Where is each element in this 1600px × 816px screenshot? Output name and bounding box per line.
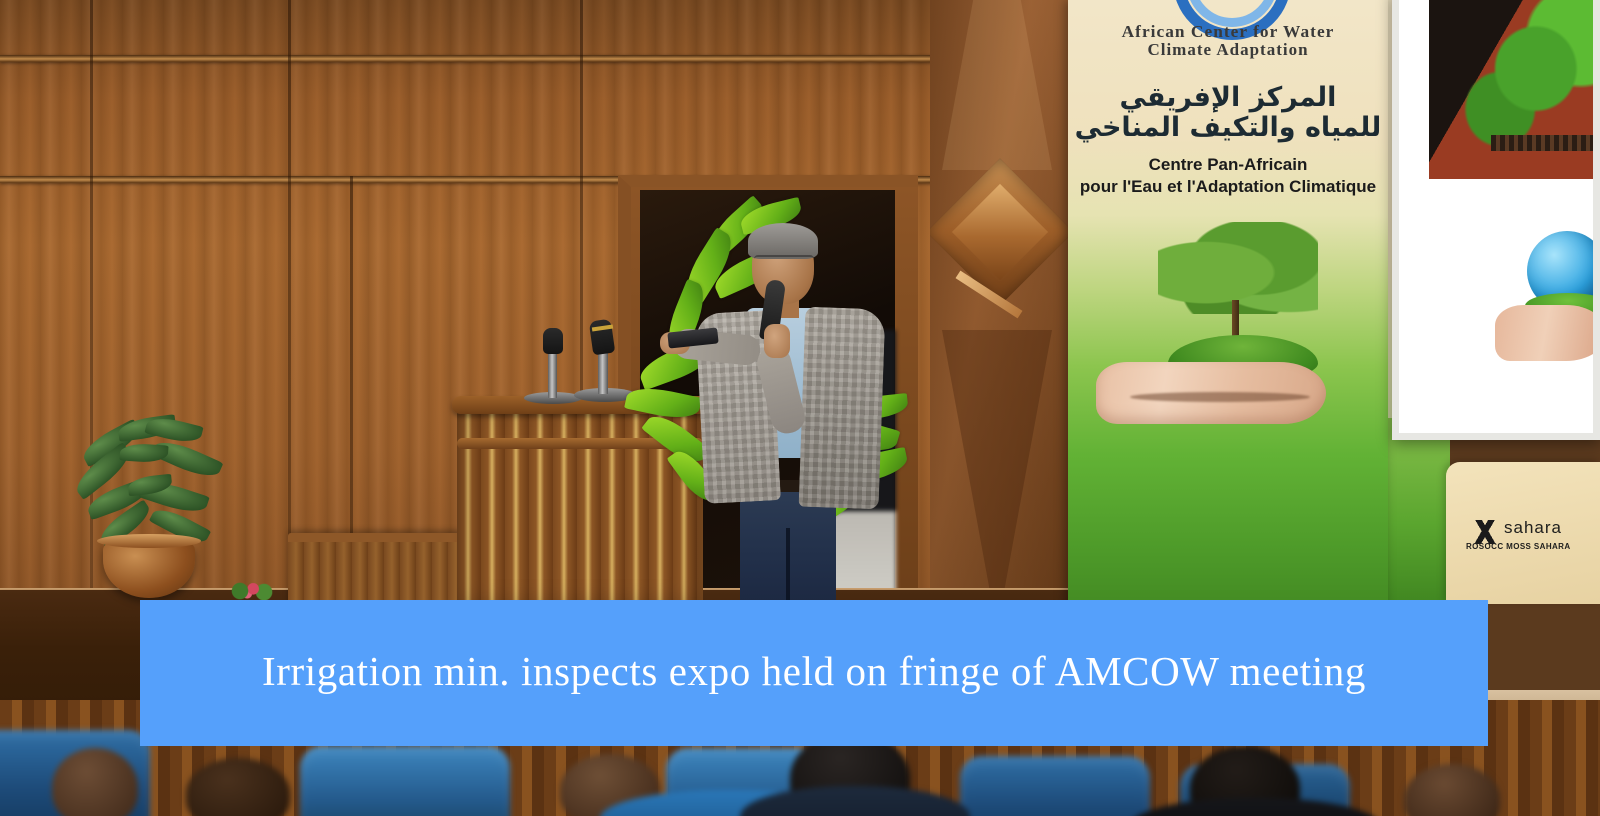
banner-arabic-line2: للمياه والتكيف المناخي xyxy=(1068,112,1388,143)
carved-diamond-wood-panel xyxy=(930,0,1070,640)
plant-pot-rim xyxy=(97,534,201,548)
sahara-tagline: ROSOCC MOSS SAHARA xyxy=(1466,542,1571,551)
photo-scene: African Center for Water Climate Adaptat… xyxy=(0,0,1600,816)
banner-french-line2: pour l'Eau et l'Adaptation Climatique xyxy=(1068,177,1388,197)
rollup-banner: African Center for Water Climate Adaptat… xyxy=(1068,0,1388,632)
poster-hand xyxy=(1495,305,1600,361)
audience-head xyxy=(1404,764,1500,816)
speaker-hand-right xyxy=(764,324,790,358)
sahara-logo-icon xyxy=(1468,520,1502,544)
speaker-hair xyxy=(748,223,818,259)
potted-schefflera-plant xyxy=(0,0,300,620)
caption-text: Irrigation min. inspects expo held on fr… xyxy=(262,651,1366,692)
carved-triangle-up xyxy=(942,0,1052,170)
sahara-branded-panel: sahara ROSOCC MOSS SAHARA xyxy=(1446,462,1600,604)
audience-chair xyxy=(300,746,510,816)
microphone-head-left xyxy=(543,328,563,354)
audience-chair xyxy=(960,756,1150,816)
sahara-wordmark: sahara xyxy=(1504,518,1562,538)
carved-triangle-down xyxy=(942,330,1052,630)
caption-banner: Irrigation min. inspects expo held on fr… xyxy=(140,600,1488,746)
banner-french-line1: Centre Pan-Africain xyxy=(1068,155,1388,175)
flower-arrangement xyxy=(222,580,282,602)
microphone-stem-left xyxy=(548,350,557,398)
poster-shelf xyxy=(1491,135,1600,151)
audience-head xyxy=(186,758,290,816)
banner-arabic-line1: المركز الإفريقي xyxy=(1068,82,1388,113)
glasses-icon xyxy=(754,255,814,268)
audience-head xyxy=(52,748,138,816)
framed-poster xyxy=(1392,0,1600,440)
banner-english-line2: Climate Adaptation xyxy=(1068,40,1388,60)
wall-green-strip xyxy=(1388,418,1450,608)
speaker-at-podium xyxy=(690,228,890,610)
poster-plant-image xyxy=(1429,0,1600,179)
banner-english-line1: African Center for Water xyxy=(1068,22,1388,42)
speaker-jacket-right xyxy=(799,307,886,510)
banner-hands-shadow xyxy=(1130,392,1310,402)
microphone-stem-right xyxy=(598,348,608,394)
